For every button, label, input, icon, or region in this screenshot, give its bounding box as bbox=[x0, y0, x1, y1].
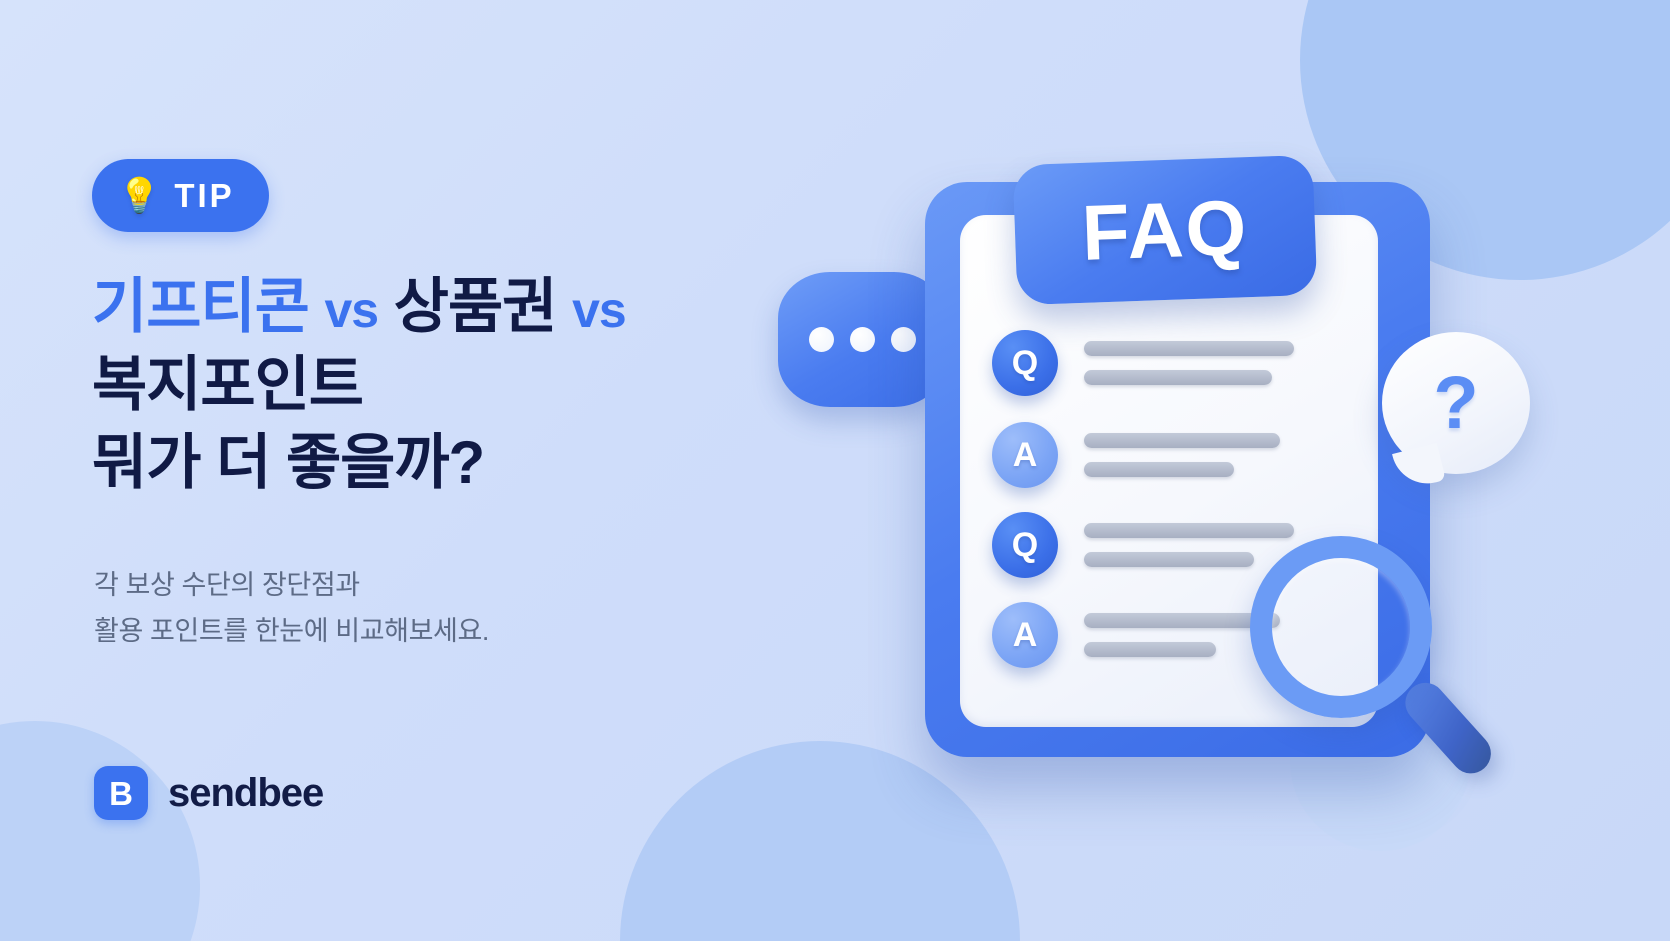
qa-badge-a-1: A bbox=[992, 422, 1058, 488]
magnifier-handle bbox=[1397, 675, 1499, 782]
text-line bbox=[1084, 341, 1294, 356]
qa-badge-q-1: Q bbox=[992, 330, 1058, 396]
magnifier-ring bbox=[1250, 536, 1432, 718]
headline-line-3: 뭐가 더 좋을까? bbox=[92, 424, 626, 502]
faq-illustration: FAQ Q A Q A bbox=[760, 120, 1540, 820]
lightbulb-icon: 💡 bbox=[118, 179, 160, 213]
brand-wordmark: sendbee bbox=[168, 771, 323, 816]
headline-vs-1: vs bbox=[324, 282, 378, 338]
faq-header-tab: FAQ bbox=[1013, 155, 1318, 305]
qa-lines-2 bbox=[1084, 433, 1280, 477]
headline-line-2: 복지포인트 bbox=[92, 346, 626, 424]
headline-line-1: 기프티콘 vs 상품권 vs bbox=[92, 268, 626, 346]
text-line bbox=[1084, 433, 1280, 448]
qa-row: A bbox=[992, 422, 1280, 488]
headline-vs-2: vs bbox=[572, 282, 626, 338]
qa-lines-1 bbox=[1084, 341, 1294, 385]
chat-dot-2 bbox=[850, 327, 875, 352]
brand-mark-letter: B bbox=[109, 777, 133, 810]
tip-badge: 💡 TIP bbox=[92, 159, 269, 232]
promo-card: 💡 TIP 기프티콘 vs 상품권 vs 복지포인트 뭐가 더 좋을까? 각 보… bbox=[0, 0, 1670, 941]
chat-bubble-icon bbox=[778, 272, 946, 407]
subtitle: 각 보상 수단의 장단점과 활용 포인트를 한눈에 비교해보세요. bbox=[94, 562, 489, 655]
subtitle-line-1: 각 보상 수단의 장단점과 bbox=[94, 562, 489, 608]
text-line bbox=[1084, 552, 1254, 567]
qa-badge-a-2: A bbox=[992, 602, 1058, 668]
headline-term-gifticon: 기프티콘 bbox=[92, 273, 309, 340]
brand-logo: B sendbee bbox=[94, 766, 323, 820]
question-mark-bubble-icon: ? bbox=[1382, 332, 1530, 474]
magnifier-icon bbox=[1240, 536, 1490, 786]
qa-row: A bbox=[992, 602, 1280, 668]
chat-dot-3 bbox=[891, 327, 916, 352]
question-mark-glyph: ? bbox=[1433, 366, 1478, 440]
qa-badge-q-2: Q bbox=[992, 512, 1058, 578]
faq-tab-label: FAQ bbox=[1080, 182, 1249, 279]
headline-term-voucher: 상품권 bbox=[394, 273, 557, 340]
text-line bbox=[1084, 642, 1216, 657]
brand-mark-icon: B bbox=[94, 766, 148, 820]
page-title: 기프티콘 vs 상품권 vs 복지포인트 뭐가 더 좋을까? bbox=[92, 268, 626, 502]
text-line bbox=[1084, 370, 1272, 385]
tip-badge-label: TIP bbox=[174, 177, 234, 215]
chat-dot-1 bbox=[809, 327, 834, 352]
text-line bbox=[1084, 462, 1234, 477]
subtitle-line-2: 활용 포인트를 한눈에 비교해보세요. bbox=[94, 608, 489, 654]
content-column: 💡 TIP 기프티콘 vs 상품권 vs 복지포인트 뭐가 더 좋을까? 각 보… bbox=[92, 0, 812, 941]
qa-row: Q bbox=[992, 330, 1294, 396]
